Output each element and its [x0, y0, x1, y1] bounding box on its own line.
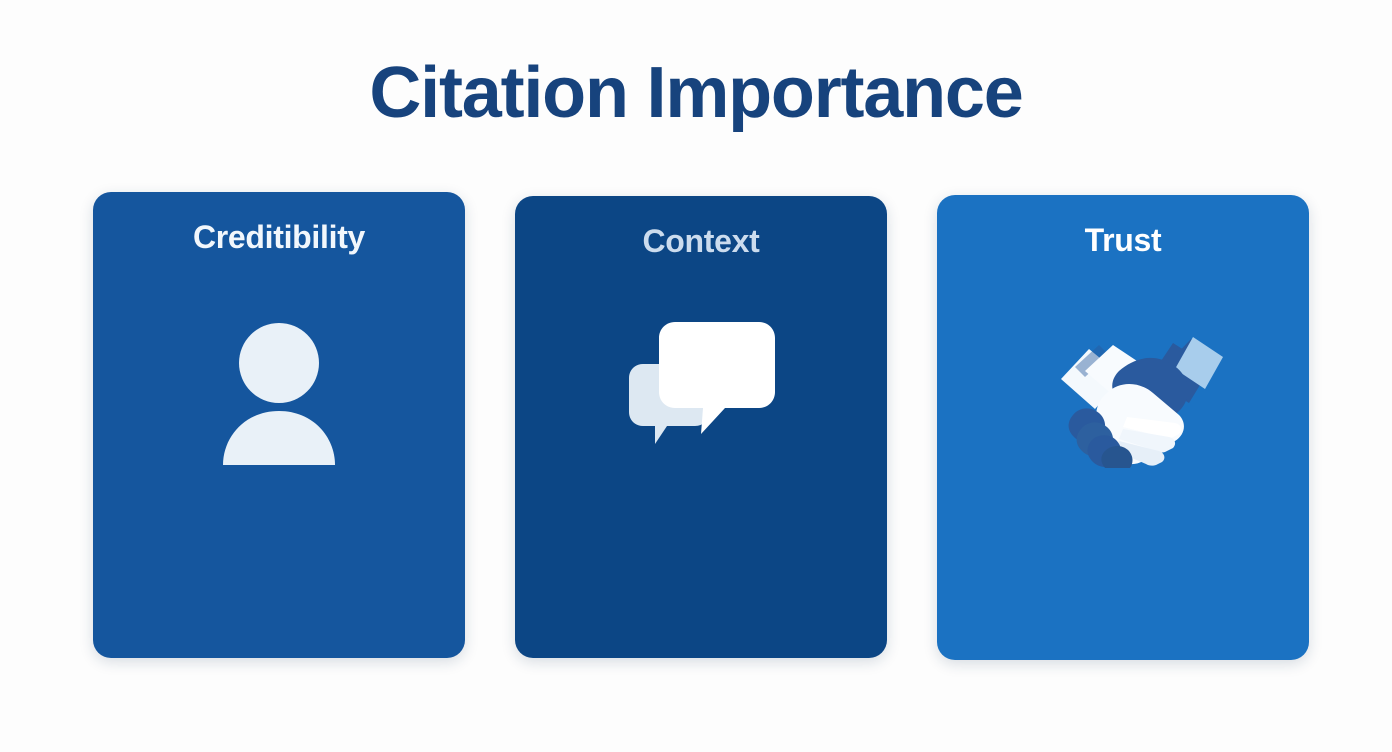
card-title-trust: Trust	[937, 221, 1309, 259]
person-icon	[209, 315, 349, 465]
card-title-creditibility: Creditibility	[93, 218, 465, 256]
cards-row: Creditibility Context Trus	[93, 192, 1309, 662]
card-icon-wrap-context	[515, 308, 887, 468]
handshake-icon	[1023, 323, 1223, 468]
speech-bubbles-icon	[621, 318, 781, 458]
page-title: Citation Importance	[0, 56, 1392, 132]
card-context[interactable]: Context	[515, 196, 887, 658]
card-icon-wrap-creditibility	[93, 310, 465, 470]
card-title-context: Context	[515, 222, 887, 260]
card-trust[interactable]: Trust	[937, 195, 1309, 660]
card-icon-wrap-trust	[937, 315, 1309, 475]
infographic-canvas: Citation Importance Creditibility Contex…	[0, 0, 1392, 752]
card-creditibility[interactable]: Creditibility	[93, 192, 465, 658]
